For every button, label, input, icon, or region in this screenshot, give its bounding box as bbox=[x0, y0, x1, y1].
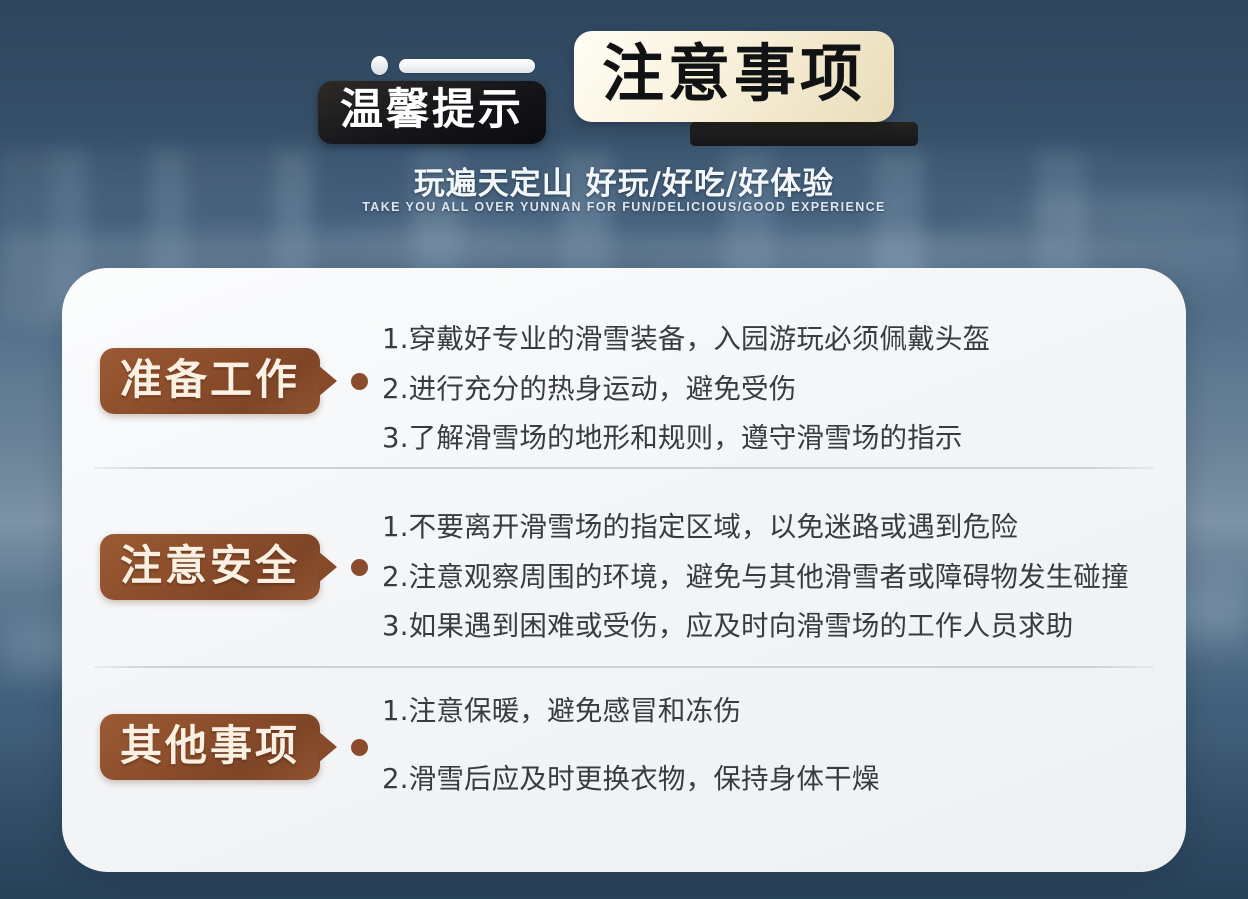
notice-line: 2.滑雪后应及时更换衣物，保持身体干燥 bbox=[382, 766, 1166, 794]
subtitle-english: TAKE YOU ALL OVER YUNNAN FOR FUN/DELICIO… bbox=[0, 200, 1248, 214]
section-lines: 1.不要离开滑雪场的指定区域，以免迷路或遇到危险 2.注意观察周围的环境，避免与… bbox=[382, 478, 1186, 641]
section-bullet-dot-icon bbox=[351, 559, 368, 576]
notice-line: 1.不要离开滑雪场的指定区域，以免迷路或遇到危险 bbox=[382, 514, 1166, 542]
section-badge: 准备工作 bbox=[100, 348, 320, 414]
title-box: 注意事项 bbox=[574, 31, 894, 122]
section-label-group: 准备工作 bbox=[62, 348, 382, 414]
section-bullet-dot-icon bbox=[351, 739, 368, 756]
header: 温馨提示 注意事项 玩遍天定山 好玩/好吃/好体验 TAKE YOU ALL O… bbox=[0, 0, 1248, 235]
notice-section: 注意安全 1.不要离开滑雪场的指定区域，以免迷路或遇到危险 2.注意观察周围的环… bbox=[62, 478, 1186, 654]
decoration-bar-icon bbox=[399, 59, 535, 73]
section-divider bbox=[94, 467, 1154, 469]
section-badge-label: 准备工作 bbox=[120, 358, 300, 402]
title-shadow-bar bbox=[690, 122, 918, 146]
section-label-group: 注意安全 bbox=[62, 534, 382, 600]
section-label-group: 其他事项 bbox=[62, 714, 382, 780]
section-badge: 其他事项 bbox=[100, 714, 320, 780]
notice-line: 1.注意保暖，避免感冒和冻伤 bbox=[382, 698, 1166, 726]
notice-line: 3.如果遇到困难或受伤，应及时向滑雪场的工作人员求助 bbox=[382, 613, 1166, 641]
notice-line: 2.进行充分的热身运动，避免受伤 bbox=[382, 376, 1166, 404]
notice-line: 2.注意观察周围的环境，避免与其他滑雪者或障碍物发生碰撞 bbox=[382, 564, 1166, 592]
tip-badge-label: 温馨提示 bbox=[340, 88, 524, 133]
page-title: 注意事项 bbox=[602, 41, 866, 108]
header-decoration bbox=[371, 56, 535, 75]
tip-badge: 温馨提示 bbox=[318, 81, 546, 144]
notice-line: 1.穿戴好专业的滑雪装备，入园游玩必须佩戴头盔 bbox=[382, 326, 1166, 354]
section-badge-label: 其他事项 bbox=[120, 724, 300, 768]
notice-line: 3.了解滑雪场的地形和规则，遵守滑雪场的指示 bbox=[382, 425, 1166, 453]
decoration-dot-icon bbox=[371, 56, 388, 75]
notice-card: 准备工作 1.穿戴好专业的滑雪装备，入园游玩必须佩戴头盔 2.进行充分的热身运动… bbox=[62, 268, 1186, 872]
section-badge-label: 注意安全 bbox=[120, 544, 300, 588]
notice-section: 准备工作 1.穿戴好专业的滑雪装备，入园游玩必须佩戴头盔 2.进行充分的热身运动… bbox=[62, 290, 1186, 466]
section-lines: 1.注意保暖，避免感冒和冻伤 2.滑雪后应及时更换衣物，保持身体干燥 bbox=[382, 668, 1186, 833]
poster-root: 温馨提示 注意事项 玩遍天定山 好玩/好吃/好体验 TAKE YOU ALL O… bbox=[0, 0, 1248, 899]
section-badge: 注意安全 bbox=[100, 534, 320, 600]
section-bullet-dot-icon bbox=[351, 373, 368, 390]
section-lines: 1.穿戴好专业的滑雪装备，入园游玩必须佩戴头盔 2.进行充分的热身运动，避免受伤… bbox=[382, 290, 1186, 453]
subtitle: 玩遍天定山 好玩/好吃/好体验 bbox=[0, 158, 1248, 203]
notice-section: 其他事项 1.注意保暖，避免感冒和冻伤 2.滑雪后应及时更换衣物，保持身体干燥 bbox=[62, 668, 1186, 828]
